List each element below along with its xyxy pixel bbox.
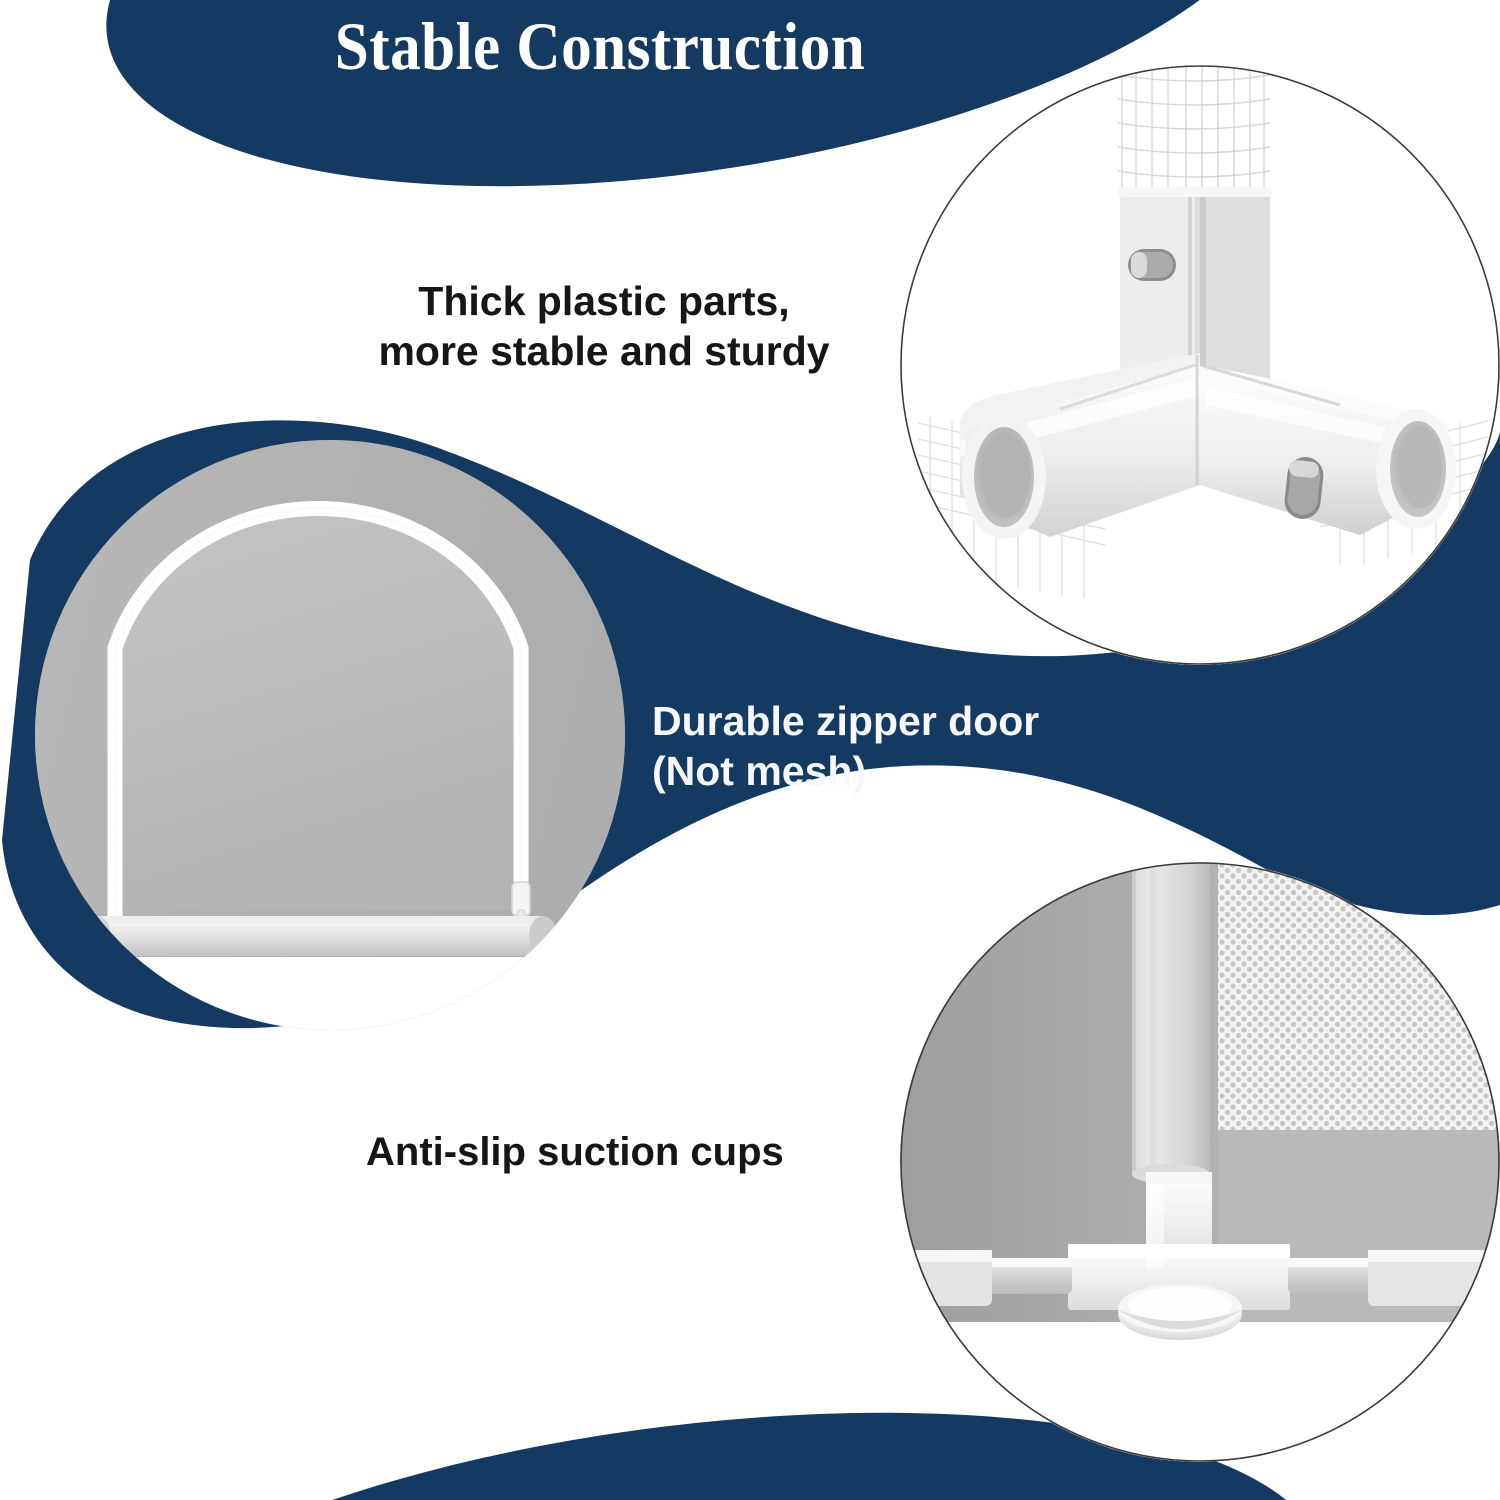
corner-connector-photo (900, 65, 1500, 665)
page-title: Stable Construction (285, 0, 915, 92)
suction-cup (1118, 1284, 1242, 1340)
suction-cup-photo (900, 862, 1500, 1462)
zipper-door-photo (35, 440, 625, 1030)
post-slot (1128, 249, 1176, 281)
caption-thick-plastic: Thick plastic parts, more stable and stu… (344, 276, 864, 376)
caption-zipper-door: Durable zipper door (Not mesh) (652, 696, 1122, 796)
infographic-page: Stable Construction Thick plastic parts,… (0, 0, 1500, 1500)
door-panel (121, 513, 515, 910)
caption-suction-cups: Anti-slip suction cups (366, 1128, 886, 1177)
